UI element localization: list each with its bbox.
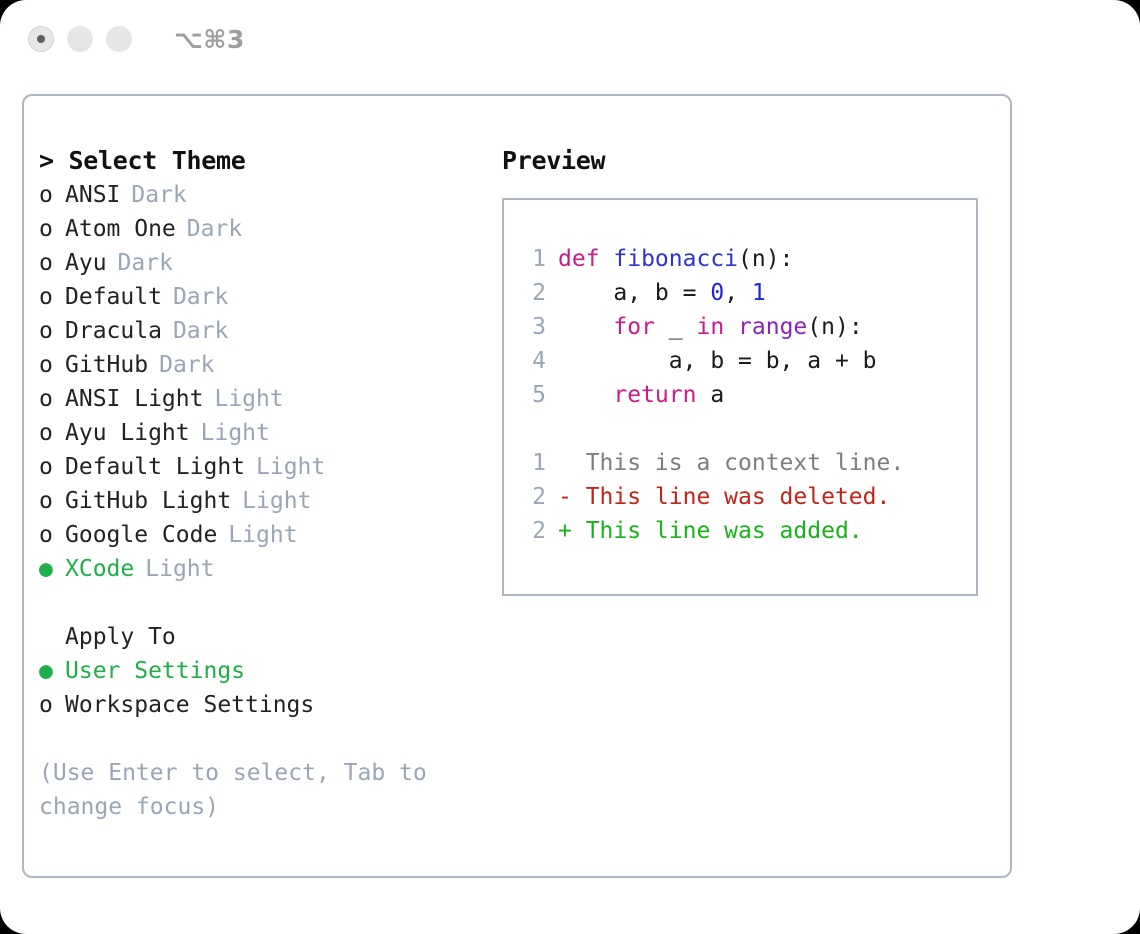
token: + This line was added. [558,518,863,544]
radio-unselected-icon: o [39,450,65,484]
line-number: 5 [516,378,546,412]
theme-option-3[interactable]: oDefaultDark [39,280,479,314]
select-theme-header: > Select Theme [39,144,479,178]
token: 0 [710,280,724,306]
theme-option-label: ANSI Light [65,382,203,416]
preview-box: 1def fibonacci(n):2 a, b = 0, 13 for _ i… [502,198,978,596]
theme-list: oANSIDarkoAtom OneDarkoAyuDarkoDefaultDa… [39,178,479,586]
theme-variant-tag: Dark [118,246,173,280]
code-line-content: a, b = 0, 1 [558,276,766,310]
line-number: 1 [516,242,546,276]
theme-variant-tag: Dark [159,348,214,382]
hint-spacer [39,722,479,756]
line-number: 1 [516,446,546,480]
theme-option-1[interactable]: oAtom OneDark [39,212,479,246]
token: a [696,382,724,408]
diff-line-0: 1 This is a context line. [516,446,976,480]
token: def [558,246,613,272]
theme-option-label: Ayu Light [65,416,190,450]
line-number: 2 [516,276,546,310]
theme-variant-tag: Light [145,552,214,586]
radio-unselected-icon: o [39,688,65,722]
radio-unselected-icon: o [39,178,65,212]
main-panel: > Select Theme oANSIDarkoAtom OneDarkoAy… [22,94,1012,878]
preview-gap [516,412,976,446]
token: return [613,382,696,408]
code-line-4: 5 return a [516,378,976,412]
list-spacer [39,586,479,620]
theme-option-label: Dracula [65,314,162,348]
theme-option-5[interactable]: oGitHubDark [39,348,479,382]
token [558,382,613,408]
theme-variant-tag: Dark [173,280,228,314]
token: , [724,280,752,306]
code-line-content: def fibonacci(n): [558,242,793,276]
theme-option-4[interactable]: oDraculaDark [39,314,479,348]
theme-option-label: Default Light [65,450,245,484]
code-line-content: for _ in range(n): [558,310,863,344]
theme-option-8[interactable]: oDefault LightLight [39,450,479,484]
keyboard-shortcut-label: ⌥⌘3 [174,25,245,54]
token: - This line was deleted. [558,484,890,510]
theme-option-label: XCode [65,552,134,586]
token: a, b = [558,280,710,306]
theme-option-label: Default [65,280,162,314]
theme-variant-tag: Light [242,484,311,518]
theme-option-label: Atom One [65,212,176,246]
diff-line-1: 2- This line was deleted. [516,480,976,514]
token: for [613,314,655,340]
apply-to-option-1[interactable]: oWorkspace Settings [39,688,479,722]
theme-variant-tag: Dark [173,314,228,348]
theme-variant-tag: Light [256,450,325,484]
diff-line-content: This is a context line. [558,446,904,480]
theme-selection-column: > Select Theme oANSIDarkoAtom OneDarkoAy… [39,144,479,824]
radio-unselected-icon: o [39,382,65,416]
radio-unselected-icon: o [39,518,65,552]
radio-unselected-icon: o [39,212,65,246]
apply-to-option-label: User Settings [65,654,245,688]
token: (n): [738,246,793,272]
window-control-minimize[interactable] [67,26,93,52]
code-line-2: 3 for _ in range(n): [516,310,976,344]
diff-line-content: + This line was added. [558,514,863,548]
line-number: 2 [516,514,546,548]
code-line-0: 1def fibonacci(n): [516,242,976,276]
theme-option-label: ANSI [65,178,120,212]
line-number: 2 [516,480,546,514]
token [558,314,613,340]
theme-option-label: Google Code [65,518,217,552]
theme-option-9[interactable]: oGitHub LightLight [39,484,479,518]
theme-variant-tag: Light [228,518,297,552]
keyboard-hint-text: (Use Enter to select, Tab to change focu… [39,756,449,824]
theme-option-6[interactable]: oANSI LightLight [39,382,479,416]
radio-unselected-icon: o [39,280,65,314]
active-indicator-dot [37,35,45,43]
theme-variant-tag: Dark [131,178,186,212]
token: fibonacci [613,246,738,272]
window-control-maximize[interactable] [106,26,132,52]
radio-unselected-icon: o [39,416,65,450]
theme-option-label: GitHub Light [65,484,231,518]
app-window: ⌥⌘3 > Select Theme oANSIDarkoAtom OneDar… [0,0,1140,934]
radio-unselected-icon: o [39,314,65,348]
radio-selected-icon: ● [39,552,65,586]
diff-line-content: - This line was deleted. [558,480,890,514]
token: in [696,314,724,340]
line-number: 3 [516,310,546,344]
apply-to-header: Apply To [39,620,479,654]
radio-unselected-icon: o [39,484,65,518]
theme-option-10[interactable]: oGoogle CodeLight [39,518,479,552]
theme-variant-tag: Light [214,382,283,416]
diff-line-2: 2+ This line was added. [516,514,976,548]
token: (n): [807,314,862,340]
preview-header: Preview [502,144,1002,178]
token: 1 [752,280,766,306]
diff-preview: 1 This is a context line.2- This line wa… [516,446,976,548]
apply-to-list: ●User SettingsoWorkspace Settings [39,654,479,722]
theme-option-label: GitHub [65,348,148,382]
code-line-3: 4 a, b = b, a + b [516,344,976,378]
apply-to-option-label: Workspace Settings [65,688,314,722]
window-titlebar: ⌥⌘3 [0,0,1140,78]
theme-option-2[interactable]: oAyuDark [39,246,479,280]
theme-variant-tag: Dark [187,212,242,246]
token: This is a context line. [558,450,904,476]
line-number: 4 [516,344,546,378]
code-line-1: 2 a, b = 0, 1 [516,276,976,310]
code-preview: 1def fibonacci(n):2 a, b = 0, 13 for _ i… [516,242,976,412]
radio-unselected-icon: o [39,348,65,382]
code-line-content: return a [558,378,724,412]
theme-variant-tag: Light [201,416,270,450]
token: range [738,314,807,340]
radio-unselected-icon: o [39,246,65,280]
token: a, b = b, a + b [558,348,877,374]
window-controls [28,26,132,52]
apply-to-option-0[interactable]: ●User Settings [39,654,479,688]
code-line-content: a, b = b, a + b [558,344,877,378]
theme-option-7[interactable]: oAyu LightLight [39,416,479,450]
radio-selected-icon: ● [39,654,65,688]
token: _ [655,314,697,340]
preview-column: Preview 1def fibonacci(n):2 a, b = 0, 13… [502,144,1002,596]
theme-option-label: Ayu [65,246,107,280]
token [724,314,738,340]
theme-option-11[interactable]: ●XCodeLight [39,552,479,586]
theme-option-0[interactable]: oANSIDark [39,178,479,212]
window-control-close[interactable] [28,26,54,52]
